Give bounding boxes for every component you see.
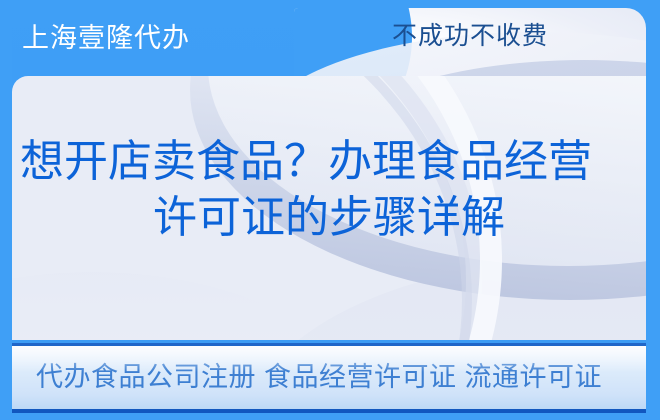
page-title: 想开店卖食品？办理食品经营 许可证的步骤详解 — [12, 134, 646, 247]
bottom-blue-margin — [0, 413, 660, 420]
brand-block: 上海壹隆代办 — [0, 0, 330, 76]
slogan-panel: 不成功不收费 — [294, 8, 646, 76]
headline-line-1: 想开店卖食品？办理食品经营 — [12, 134, 646, 190]
promotional-banner: 上海壹隆代办 不成功不收费 想开店卖食品？办理食品经营 许可证的步骤详解 代办食… — [0, 0, 660, 420]
slogan-text: 不成功不收费 — [294, 24, 646, 49]
headline-card: 想开店卖食品？办理食品经营 许可证的步骤详解 — [12, 76, 646, 340]
right-blue-margin — [646, 0, 660, 420]
headline-line-2: 许可证的步骤详解 — [12, 190, 646, 246]
left-blue-margin — [0, 0, 12, 420]
keyword-list: 代办食品公司注册 食品经营许可证 流通许可证 — [12, 364, 602, 391]
keyword-bar: 代办食品公司注册 食品经营许可证 流通许可证 — [12, 343, 646, 413]
brand-name: 上海壹隆代办 — [22, 25, 190, 52]
